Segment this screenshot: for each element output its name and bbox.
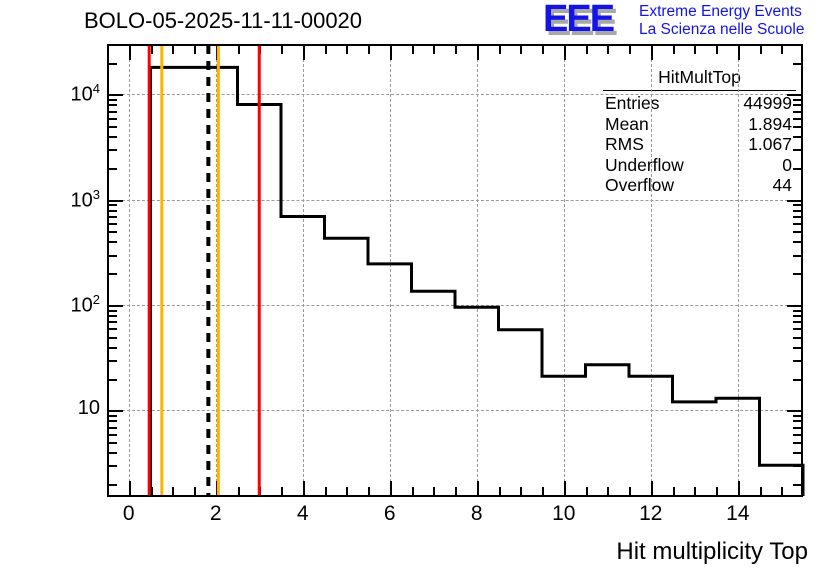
root-canvas: BOLO-05-2025-11-11-00020 EEE EEE Extreme… <box>0 0 836 572</box>
eee-logo-mark: EEE <box>543 2 613 36</box>
plot-frame <box>107 44 803 497</box>
